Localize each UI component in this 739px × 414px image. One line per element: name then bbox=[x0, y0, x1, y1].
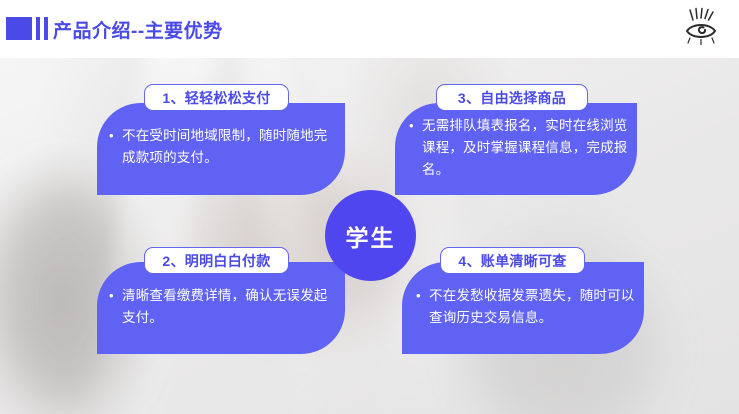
feature-card-3-heading-label: 3、自由选择商品 bbox=[458, 88, 566, 108]
feature-card-1-heading-label: 1、轻轻松松支付 bbox=[162, 88, 270, 108]
feature-card-1-body: • 不在受时间地域限制，随时随地完成款项的支付。 bbox=[109, 125, 337, 169]
feature-card-2-body: • 清晰查看缴费详情，确认无误发起支付。 bbox=[109, 285, 337, 329]
feature-card-1[interactable]: • 不在受时间地域限制，随时随地完成款项的支付。 bbox=[97, 103, 345, 195]
slide: 产品介绍--主要优势 • 不在受时间地域限制，随时随地完成款项的支付。 bbox=[0, 0, 739, 414]
eye-logo bbox=[679, 6, 723, 50]
bullet-icon: • bbox=[416, 285, 429, 329]
page-title: 产品介绍--主要优势 bbox=[53, 16, 223, 43]
feature-card-3-body: • 无需排队填表报名，实时在线浏览课程，及时掌握课程信息，完成报名。 bbox=[409, 115, 631, 181]
bullet-icon: • bbox=[109, 285, 122, 329]
feature-card-4-text: 不在发愁收据发票遗失，随时可以查询历史交易信息。 bbox=[429, 285, 638, 329]
feature-card-4-body: • 不在发愁收据发票遗失，随时可以查询历史交易信息。 bbox=[416, 285, 638, 329]
bullet-icon: • bbox=[109, 125, 122, 169]
feature-card-4-heading-label: 4、账单清晰可查 bbox=[458, 251, 566, 271]
center-hub-label: 学生 bbox=[346, 219, 396, 253]
center-hub[interactable]: 学生 bbox=[325, 190, 416, 281]
feature-card-2-heading-label: 2、明明白白付款 bbox=[162, 251, 270, 271]
feature-card-2-heading[interactable]: 2、明明白白付款 bbox=[144, 247, 289, 274]
slide-header: 产品介绍--主要优势 bbox=[0, 0, 739, 58]
feature-card-1-text: 不在受时间地域限制，随时随地完成款项的支付。 bbox=[122, 125, 337, 169]
feature-card-4[interactable]: • 不在发愁收据发票遗失，随时可以查询历史交易信息。 bbox=[402, 262, 644, 354]
feature-card-3-text: 无需排队填表报名，实时在线浏览课程，及时掌握课程信息，完成报名。 bbox=[422, 115, 631, 181]
feature-card-3[interactable]: • 无需排队填表报名，实时在线浏览课程，及时掌握课程信息，完成报名。 bbox=[395, 103, 637, 195]
feature-card-4-heading[interactable]: 4、账单清晰可查 bbox=[440, 247, 585, 274]
feature-card-2-text: 清晰查看缴费详情，确认无误发起支付。 bbox=[122, 285, 337, 329]
feature-card-2[interactable]: • 清晰查看缴费详情，确认无误发起支付。 bbox=[97, 262, 345, 354]
bullet-icon: • bbox=[409, 115, 422, 181]
feature-card-1-heading[interactable]: 1、轻轻松松支付 bbox=[144, 84, 289, 111]
title-decoration-icon bbox=[6, 17, 48, 40]
feature-card-3-heading[interactable]: 3、自由选择商品 bbox=[436, 84, 588, 111]
